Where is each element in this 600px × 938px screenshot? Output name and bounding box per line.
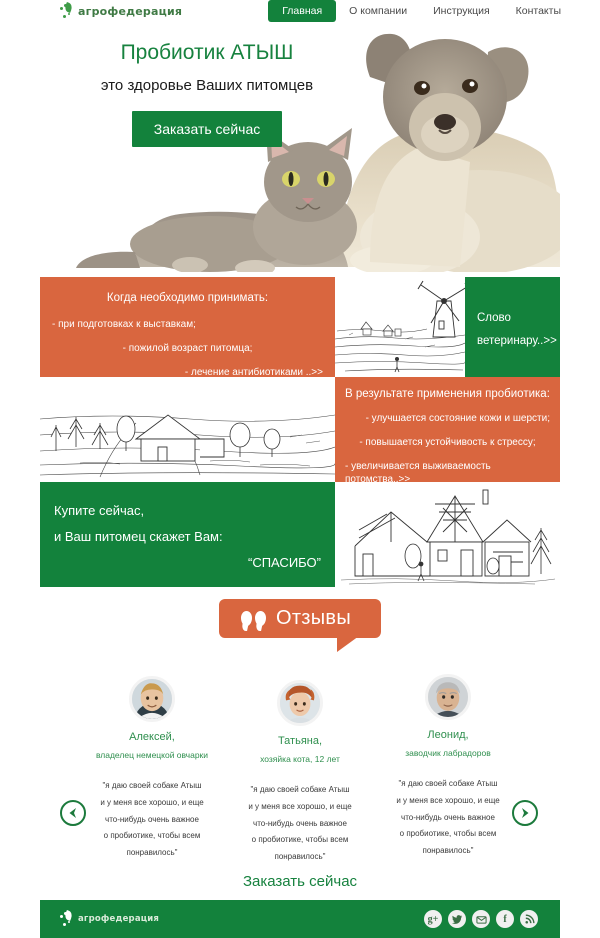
nav-item-home[interactable]: Главная xyxy=(268,0,336,22)
chevron-left-icon xyxy=(67,807,79,819)
social-links: g+ f xyxy=(424,910,560,928)
vet-word-card[interactable]: Слово ветеринару..>> xyxy=(465,277,560,377)
results-card: В результате применения пробиотика: - ул… xyxy=(335,377,560,482)
vet-word-line1: Слово xyxy=(477,307,548,330)
nav-item-instruction[interactable]: Инструкция xyxy=(420,1,503,21)
quote-line: что-нибудь очень важное xyxy=(226,816,374,833)
testimonial-card-3: Леонид, заводчик лабрадоров "я даю своей… xyxy=(374,674,522,858)
testimonial-role: хозяйка кота, 12 лет xyxy=(226,754,374,764)
quote-line: понравилось" xyxy=(374,843,522,860)
farmhouses-sketch-image xyxy=(335,482,560,587)
quote-marks-icon xyxy=(241,611,266,626)
quote-line: о пробиотике, чтобы всем xyxy=(226,832,374,849)
windmill-sketch-image xyxy=(335,277,465,377)
testimonial-name: Алексей, xyxy=(78,731,226,743)
reviews-heading-bar: Отзывы xyxy=(0,599,600,638)
results-item-2: - повышается устойчивость к стрессу; xyxy=(345,436,550,449)
when-to-take-item-1: - при подготовках к выставкам; xyxy=(52,318,323,331)
testimonial-quote: "я даю своей собаке Атыш и у меня все хо… xyxy=(78,778,226,862)
leaf-dots-icon xyxy=(58,3,74,19)
chevron-right-icon xyxy=(519,807,531,819)
quote-line: что-нибудь очень важное xyxy=(374,810,522,827)
carousel-prev-button[interactable] xyxy=(60,800,86,826)
carousel-next-button[interactable] xyxy=(512,800,538,826)
buy-now-line2: и Ваш питомец скажет Вам: xyxy=(54,524,321,550)
village-sketch-image xyxy=(40,377,335,482)
nav-item-about[interactable]: О компании xyxy=(336,1,420,21)
testimonial-role: заводчик лабрадоров xyxy=(374,748,522,758)
facebook-icon[interactable]: f xyxy=(496,910,514,928)
reviews-title: Отзывы xyxy=(276,607,351,630)
rss-icon[interactable] xyxy=(520,910,538,928)
buy-now-line3: “СПАСИБО” xyxy=(54,550,321,576)
quote-line: о пробиотике, чтобы всем xyxy=(78,828,226,845)
quote-line: "я даю своей собаке Атыш xyxy=(226,782,374,799)
footer-logo-text: агрофедерация xyxy=(78,914,159,924)
quote-line: понравилось" xyxy=(226,849,374,866)
testimonial-quote: "я даю своей собаке Атыш и у меня все хо… xyxy=(226,782,374,866)
buy-now-line1: Купите сейчас, xyxy=(54,498,321,524)
when-to-take-item-3[interactable]: - лечение антибиотиками ..>> xyxy=(52,366,323,377)
quote-line: и у меня все хорошо, и еще xyxy=(226,799,374,816)
quote-line: "я даю своей собаке Атыш xyxy=(374,776,522,793)
quote-line: "я даю своей собаке Атыш xyxy=(78,778,226,795)
footer-logo[interactable]: агрофедерация xyxy=(58,911,159,927)
testimonials-list: Алексей, владелец немецкой овчарки "я да… xyxy=(40,668,560,858)
google-plus-glyph: g+ xyxy=(428,914,439,925)
hero-copy: Пробиотик АТЫШ это здоровье Ваших питомц… xyxy=(62,40,352,147)
quote-line: о пробиотике, чтобы всем xyxy=(374,826,522,843)
feature-grid: Когда необходимо принимать: - при подгот… xyxy=(40,277,560,587)
order-now-button[interactable]: Заказать сейчас xyxy=(132,111,282,147)
results-item-1: - улучшается состояние кожи и шерсти; xyxy=(345,412,550,425)
when-to-take-card: Когда необходимо принимать: - при подгот… xyxy=(40,277,335,377)
hero-subtitle: это здоровье Ваших питомцев xyxy=(62,77,352,95)
logo-text: агрофедерация xyxy=(78,5,182,18)
quote-line: понравилось" xyxy=(78,845,226,862)
results-item-3[interactable]: - увеличивается выживаемость потомства..… xyxy=(345,460,550,482)
avatar xyxy=(277,680,323,726)
quote-line: и у меня все хорошо, и еще xyxy=(374,793,522,810)
testimonial-quote: "я даю своей собаке Атыш и у меня все хо… xyxy=(374,776,522,860)
google-plus-icon[interactable]: g+ xyxy=(424,910,442,928)
testimonial-role: владелец немецкой овчарки xyxy=(78,750,226,760)
site-header: агрофедерация Главная О компании Инструк… xyxy=(0,0,600,22)
avatar xyxy=(129,676,175,722)
reviews-bubble: Отзывы xyxy=(219,599,381,638)
leaf-dots-icon xyxy=(58,911,74,927)
quote-line: и у меня все хорошо, и еще xyxy=(78,795,226,812)
when-to-take-item-2: - пожилой возраст питомца; xyxy=(52,342,323,355)
hero-title: Пробиотик АТЫШ xyxy=(62,40,352,65)
email-icon[interactable] xyxy=(472,910,490,928)
testimonial-name: Татьяна, xyxy=(226,735,374,747)
site-footer: агрофедерация g+ f xyxy=(40,900,560,938)
quote-line: что-нибудь очень важное xyxy=(78,812,226,829)
facebook-glyph: f xyxy=(503,914,506,925)
hero-section: Пробиотик АТЫШ это здоровье Ваших питомц… xyxy=(40,22,560,272)
twitter-icon[interactable] xyxy=(448,910,466,928)
testimonial-card-1: Алексей, владелец немецкой овчарки "я да… xyxy=(78,676,226,858)
results-title: В результате применения пробиотика: xyxy=(345,387,550,402)
header-logo[interactable]: агрофедерация xyxy=(58,3,182,19)
footer-order-link[interactable]: Заказать сейчас xyxy=(0,873,600,890)
testimonial-card-2: Татьяна, хозяйка кота, 12 лет "я даю сво… xyxy=(226,680,374,858)
landing-page: агрофедерация Главная О компании Инструк… xyxy=(0,0,600,938)
testimonial-name: Леонид, xyxy=(374,729,522,741)
avatar xyxy=(425,674,471,720)
vet-word-line2: ветеринару..>> xyxy=(477,330,548,353)
buy-now-card: Купите сейчас, и Ваш питомец скажет Вам:… xyxy=(40,482,335,587)
main-nav: Главная О компании Инструкция Контакты xyxy=(268,0,600,22)
nav-item-contacts[interactable]: Контакты xyxy=(503,1,574,21)
when-to-take-title: Когда необходимо принимать: xyxy=(52,291,323,306)
